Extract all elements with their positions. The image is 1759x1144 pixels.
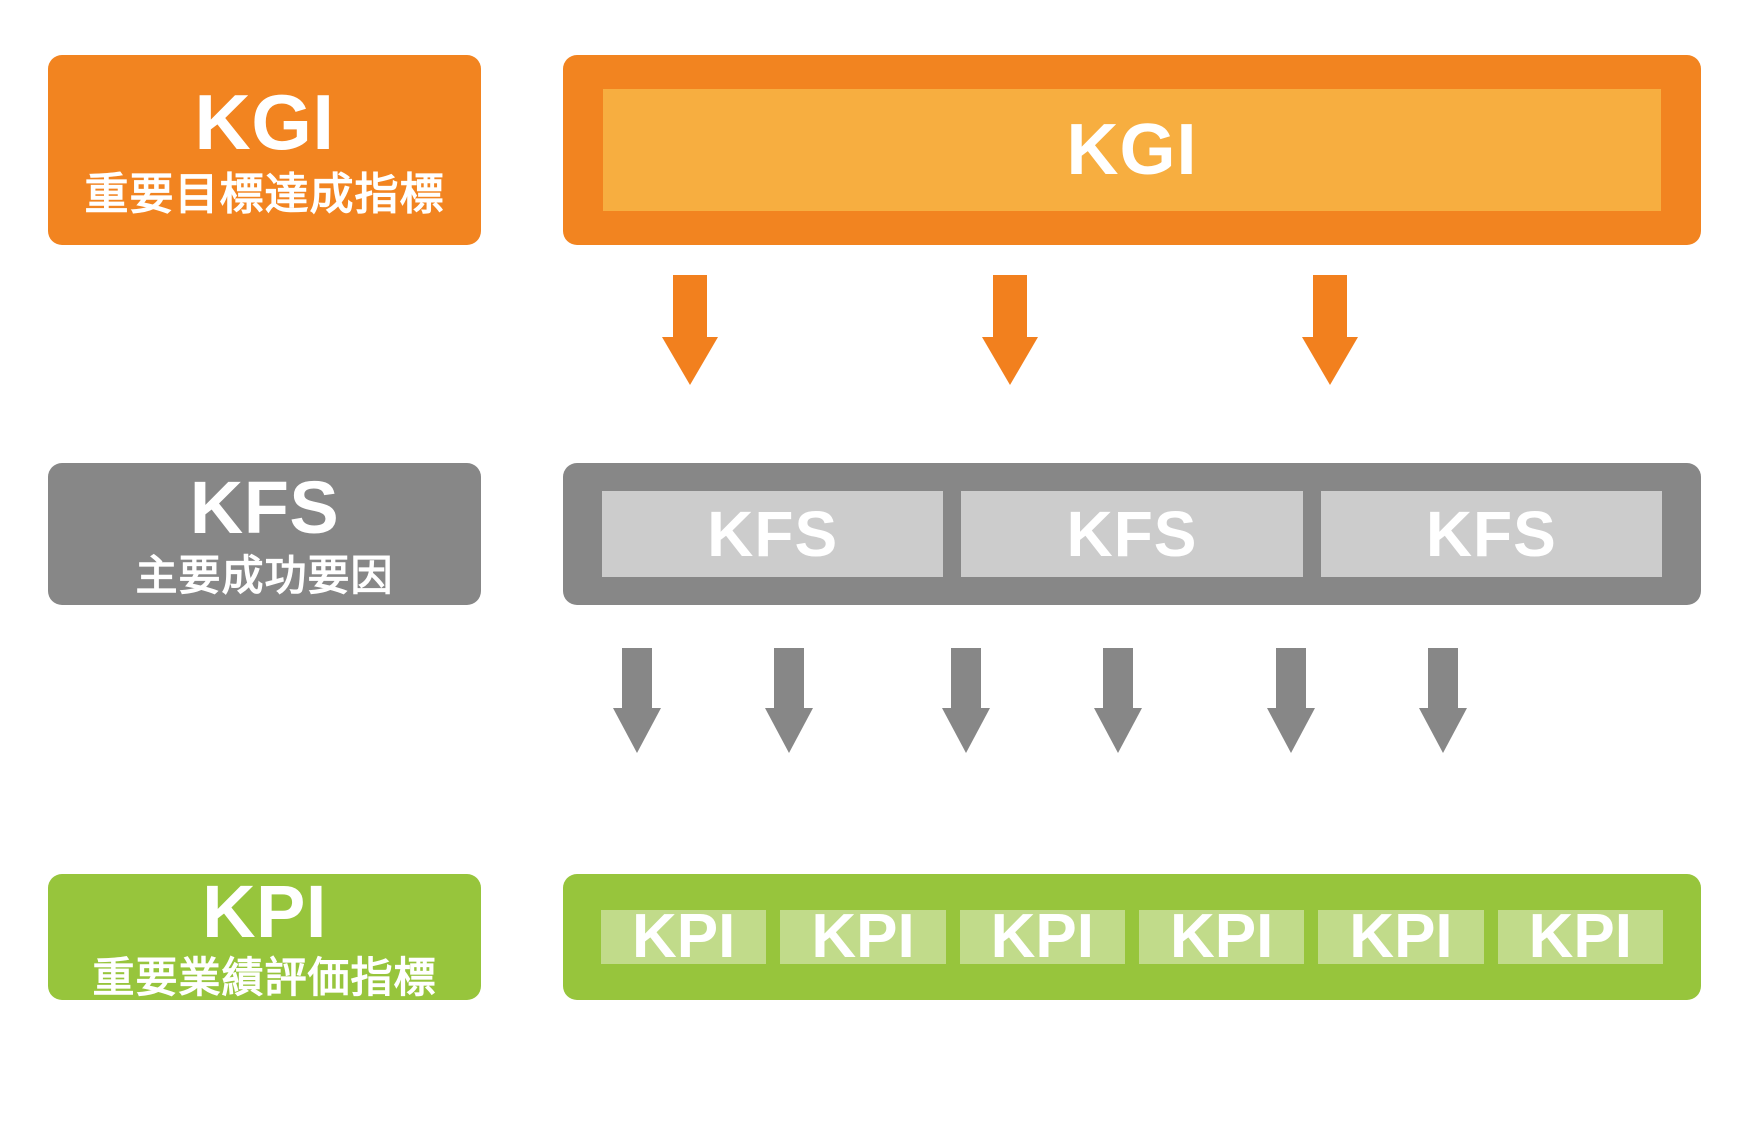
- kpi-japanese-label: 重要業績評価指標: [92, 957, 436, 999]
- arrow-kfs-to-kpi-3: [940, 648, 992, 753]
- arrow-shaft: [1428, 648, 1458, 708]
- arrow-head-icon: [613, 708, 661, 753]
- kpi-bar: KPI KPI KPI KPI KPI KPI: [563, 874, 1701, 1000]
- arrow-kfs-to-kpi-2: [763, 648, 815, 753]
- kpi-cell: KPI: [1139, 910, 1304, 964]
- arrow-head-icon: [662, 337, 718, 385]
- arrow-kgi-to-kfs-1: [660, 275, 720, 385]
- arrow-shaft: [1103, 648, 1133, 708]
- kgi-cell: KGI: [603, 89, 1661, 211]
- kpi-cell: KPI: [601, 910, 766, 964]
- arrow-head-icon: [1094, 708, 1142, 753]
- arrow-shaft: [1313, 275, 1347, 337]
- arrow-head-icon: [982, 337, 1038, 385]
- arrow-shaft: [622, 648, 652, 708]
- arrow-kgi-to-kfs-3: [1300, 275, 1360, 385]
- kfs-cell: KFS: [961, 491, 1302, 577]
- arrow-shaft: [1276, 648, 1306, 708]
- kgi-label-card: KGI 重要目標達成指標: [48, 55, 481, 245]
- arrow-head-icon: [942, 708, 990, 753]
- kfs-bar: KFS KFS KFS: [563, 463, 1701, 605]
- arrow-head-icon: [1302, 337, 1358, 385]
- arrow-shaft: [673, 275, 707, 337]
- arrow-kfs-to-kpi-4: [1092, 648, 1144, 753]
- kpi-label-card: KPI 重要業績評価指標: [48, 874, 481, 1000]
- kgi-japanese-label: 重要目標達成指標: [85, 173, 445, 217]
- arrow-head-icon: [1267, 708, 1315, 753]
- kfs-cell: KFS: [1321, 491, 1662, 577]
- kpi-cell: KPI: [780, 910, 945, 964]
- arrow-head-icon: [1419, 708, 1467, 753]
- arrow-shaft: [774, 648, 804, 708]
- kpi-cell: KPI: [1318, 910, 1483, 964]
- diagram-canvas: KGI 重要目標達成指標 KGI KFS 主要成功要因 KFS KFS KFS: [0, 0, 1759, 1144]
- kgi-bar: KGI: [563, 55, 1701, 245]
- arrow-head-icon: [765, 708, 813, 753]
- arrow-shaft: [951, 648, 981, 708]
- kfs-cell: KFS: [602, 491, 943, 577]
- kgi-acronym: KGI: [194, 83, 334, 161]
- kfs-acronym: KFS: [190, 471, 340, 545]
- arrow-kgi-to-kfs-2: [980, 275, 1040, 385]
- arrow-kfs-to-kpi-1: [611, 648, 663, 753]
- arrow-shaft: [993, 275, 1027, 337]
- kpi-cell: KPI: [960, 910, 1125, 964]
- kfs-label-card: KFS 主要成功要因: [48, 463, 481, 605]
- kpi-acronym: KPI: [202, 875, 327, 949]
- kpi-cell: KPI: [1498, 910, 1663, 964]
- arrow-kfs-to-kpi-6: [1417, 648, 1469, 753]
- arrow-kfs-to-kpi-5: [1265, 648, 1317, 753]
- kfs-japanese-label: 主要成功要因: [135, 555, 393, 597]
